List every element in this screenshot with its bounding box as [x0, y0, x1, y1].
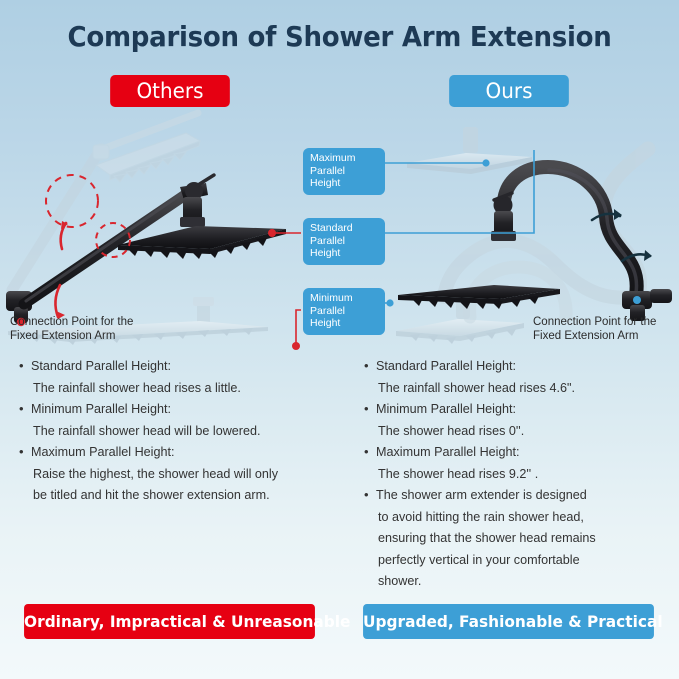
- callout-minimum-parallel-height: Minimum Parallel Height: [303, 288, 385, 335]
- bullet-detail-cont2: perfectly vertical in your comfortable: [376, 550, 673, 572]
- callout-maximum-line1: Maximum: [310, 152, 378, 165]
- callout-minimum-line1: Minimum: [310, 292, 378, 305]
- bullet-detail: The shower head rises 9.2'' .: [376, 464, 673, 486]
- page-title: Comparison of Shower Arm Extension: [24, 20, 655, 53]
- bullet-heading: Minimum Parallel Height:: [31, 402, 171, 416]
- bullet-heading: Maximum Parallel Height:: [31, 445, 174, 459]
- list-item: The shower arm extender is designed to a…: [363, 485, 673, 593]
- bullet-heading: Maximum Parallel Height:: [376, 445, 519, 459]
- connection-point-label-right: Connection Point for the Fixed Extension…: [533, 315, 656, 343]
- connection-right-line2: Fixed Extension Arm: [533, 329, 656, 343]
- left-diagram-main-arm: [6, 175, 286, 326]
- bullet-detail: The rainfall shower head rises 4.6".: [376, 378, 673, 400]
- list-item: Minimum Parallel Height: The rainfall sh…: [18, 399, 343, 442]
- bullet-detail: to avoid hitting the rain shower head,: [376, 507, 673, 529]
- list-item: Standard Parallel Height: The rainfall s…: [18, 356, 343, 399]
- bullet-detail: The shower head rises 0''.: [376, 421, 673, 443]
- list-item: Maximum Parallel Height: Raise the highe…: [18, 442, 343, 507]
- others-feature-list: Standard Parallel Height: The rainfall s…: [18, 356, 343, 507]
- verdict-banner-ours: Upgraded, Fashionable & Practical: [363, 604, 654, 639]
- badge-ours: Ours: [449, 75, 569, 107]
- bullet-detail-cont: be titled and hit the shower extension a…: [31, 485, 343, 507]
- ours-feature-list: Standard Parallel Height: The rainfall s…: [363, 356, 673, 593]
- connection-left-line2: Fixed Extension Arm: [10, 329, 133, 343]
- badge-others: Others: [110, 75, 230, 107]
- callout-maximum-line2: Parallel Height: [310, 165, 378, 190]
- bullet-heading: Standard Parallel Height:: [376, 359, 516, 373]
- callout-standard-line1: Standard: [310, 222, 378, 235]
- bullet-heading: Minimum Parallel Height:: [376, 402, 516, 416]
- connection-left-line1: Connection Point for the: [10, 315, 133, 329]
- list-item: Standard Parallel Height: The rainfall s…: [363, 356, 673, 399]
- connection-right-line1: Connection Point for the: [533, 315, 656, 329]
- bullet-detail-cont3: shower.: [376, 571, 673, 593]
- bullet-detail: Raise the highest, the shower head will …: [31, 464, 343, 486]
- list-item: Minimum Parallel Height: The shower head…: [363, 399, 673, 442]
- bullet-heading: Standard Parallel Height:: [31, 359, 171, 373]
- bullet-detail-cont: ensuring that the shower head remains: [376, 528, 673, 550]
- callout-minimum-line2: Parallel Height: [310, 305, 378, 330]
- list-item: Maximum Parallel Height: The shower head…: [363, 442, 673, 485]
- callout-standard-line2: Parallel Height: [310, 235, 378, 260]
- bullet-heading: The shower arm extender is designed: [376, 488, 587, 502]
- infographic-root: Comparison of Shower Arm Extension Other…: [0, 0, 679, 679]
- connection-point-label-left: Connection Point for the Fixed Extension…: [10, 315, 133, 343]
- callout-standard-parallel-height: Standard Parallel Height: [303, 218, 385, 265]
- callout-maximum-parallel-height: Maximum Parallel Height: [303, 148, 385, 195]
- verdict-banner-others: Ordinary, Impractical & Unreasonable: [24, 604, 315, 639]
- bullet-detail: The rainfall shower head will be lowered…: [31, 421, 343, 443]
- bullet-detail: The rainfall shower head rises a little.: [31, 378, 343, 400]
